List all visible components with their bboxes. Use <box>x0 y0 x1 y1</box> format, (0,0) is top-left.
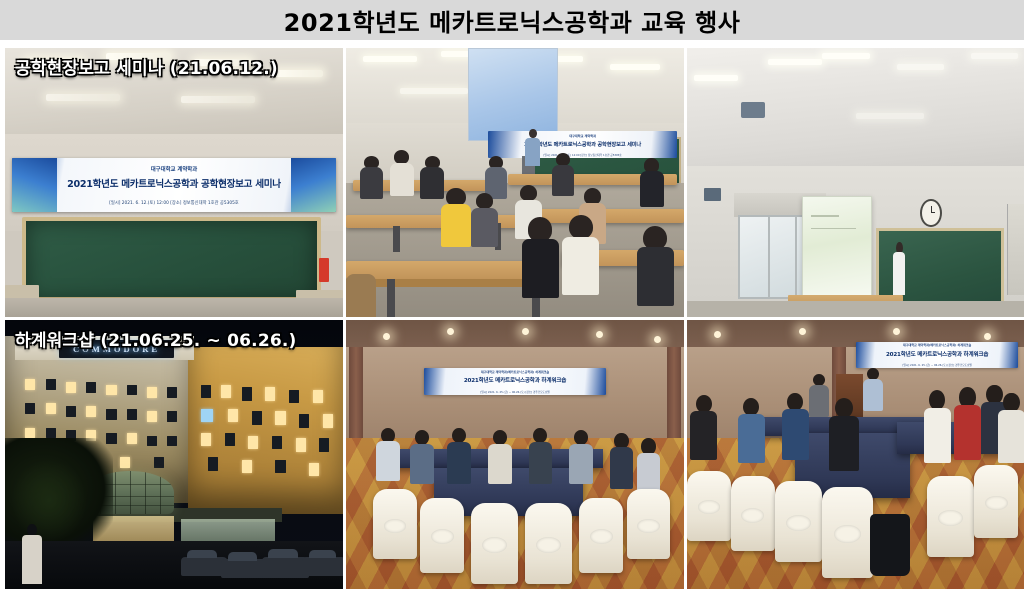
ceiling-light <box>181 96 255 103</box>
banner-line-3: [일시] 2021. 6. 12.(토) 12:00 [장소] 정보통신대학 1… <box>488 153 677 157</box>
row-caption-seminar: 공학현장보고 세미나 (21.06.12.) <box>15 54 278 79</box>
participant <box>529 428 553 484</box>
student <box>562 215 599 296</box>
banquet-chair <box>927 476 974 557</box>
window <box>66 382 76 393</box>
banner-line-1: 대구대학교 계약학과 <box>12 165 336 173</box>
ceiling-light <box>822 53 869 59</box>
projector-screen <box>468 48 558 141</box>
window <box>154 457 164 468</box>
window <box>265 387 275 400</box>
student <box>552 153 574 196</box>
window <box>201 433 211 446</box>
workshop-banner: 대구대학교 계약학과(메카트로닉스공학과) 하계워크숍 2021학년도 메카트로… <box>424 368 607 395</box>
presenter <box>893 242 905 296</box>
window <box>46 403 56 414</box>
participant <box>809 374 829 417</box>
participant <box>376 428 400 482</box>
window <box>147 387 157 398</box>
banquet-chair <box>731 476 775 551</box>
desk-leg <box>387 279 395 317</box>
banner-line-2: 2021학년도 메카트로닉스공학과 공학현장보고 세미나 <box>12 176 336 190</box>
ceiling <box>687 48 1024 172</box>
screen-text-line <box>811 228 856 230</box>
wall-speaker-icon <box>704 188 721 201</box>
banner-line-2: 2021학년도 메카트로닉스공학과 하계워크숍 <box>424 376 607 384</box>
student <box>441 188 471 247</box>
banquet-chair <box>822 487 873 578</box>
banner-line-3: [일시] 2021. 6. 25.(금) ~ 06.26.(토) [장소] 경주… <box>856 363 1018 367</box>
photo-cell-workshop-discussion[interactable]: 대구대학교 계약학과(메카트로닉스공학과) 하계워크숍 2021학년도 메카트로… <box>687 320 1024 589</box>
window <box>46 379 56 390</box>
window <box>86 382 96 393</box>
banquet-chair <box>974 465 1018 538</box>
ceiling-light <box>971 53 1018 59</box>
student <box>640 158 664 206</box>
ceiling-downlight <box>596 331 603 338</box>
participant <box>610 433 634 489</box>
window <box>221 385 231 398</box>
event-photo-board: 2021학년도 메카트로닉스공학과 교육 행사 대구대학교 계약학과 2021학… <box>0 0 1024 594</box>
participant <box>690 395 717 460</box>
page-header: 2021학년도 메카트로닉스공학과 교육 행사 <box>0 0 1024 40</box>
window <box>313 390 323 403</box>
window <box>289 390 299 403</box>
window <box>272 436 282 449</box>
ceiling-light <box>363 56 417 62</box>
banquet-chair <box>627 489 671 559</box>
banner-line-1: 대구대학교 계약학과(메카트로닉스공학과) 하계워크숍 <box>424 370 607 374</box>
participant <box>410 430 434 484</box>
student <box>637 226 674 307</box>
photo-cell-commodore-hotel-night[interactable]: COMMODORE <box>5 320 343 589</box>
banquet-chair <box>525 503 572 584</box>
projector-screen <box>802 196 872 300</box>
seminar-banner: 대구대학교 계약학과 2021학년도 메카트로닉스공학과 공학현장보고 세미나 … <box>488 131 677 158</box>
hotel-building-right <box>188 347 343 514</box>
banquet-chair <box>687 471 731 541</box>
window <box>248 436 258 449</box>
student <box>522 217 559 298</box>
projector-icon <box>741 102 765 118</box>
banner-line-1: 대구대학교 계약학과(메카트로닉스공학과) 하계워크숍 <box>856 343 1018 347</box>
participant <box>782 393 809 460</box>
wall-clock-icon <box>920 199 942 227</box>
participant <box>829 398 859 471</box>
ceiling-downlight <box>522 328 529 335</box>
chair <box>346 274 376 317</box>
page-title: 2021학년도 메카트로닉스공학과 교육 행사 <box>284 3 741 38</box>
screen-text-line <box>811 215 839 217</box>
fire-extinguisher-icon <box>319 258 329 282</box>
window <box>147 436 157 447</box>
window <box>275 411 285 424</box>
banner-line-3: [일시] 2021. 6. 12.(토) 12:00 [장소] 정보통신대학 1… <box>12 200 336 206</box>
ceiling-light <box>694 75 738 81</box>
window <box>225 433 235 446</box>
banquet-chair <box>420 498 464 573</box>
window <box>208 457 218 470</box>
student <box>360 156 384 199</box>
student <box>471 193 498 247</box>
student <box>390 150 414 196</box>
window <box>252 411 262 424</box>
ceiling-light <box>768 59 822 65</box>
chalkboard <box>22 217 321 306</box>
banquet-chair <box>579 498 623 573</box>
ceiling-light <box>400 88 468 94</box>
participant <box>738 398 765 463</box>
banner-line-3: [일시] 2021. 6. 25.(금) ~ 06.26.(토) [장소] 경주… <box>424 390 607 394</box>
window <box>86 406 96 417</box>
window <box>127 385 137 396</box>
presenter <box>525 129 540 167</box>
window <box>25 428 35 439</box>
ceiling-downlight <box>714 331 721 338</box>
participant <box>569 430 593 484</box>
window <box>167 411 177 422</box>
window <box>242 460 252 473</box>
car <box>302 557 343 576</box>
banquet-chair <box>471 503 518 584</box>
window <box>309 463 319 476</box>
window <box>299 414 309 427</box>
window <box>201 385 211 398</box>
desk-leg <box>393 226 400 253</box>
door <box>1007 204 1024 295</box>
window <box>120 457 130 468</box>
floor <box>687 301 1024 317</box>
person <box>22 524 42 583</box>
banner-line-2: 2021학년도 메카트로닉스공학과 하계워크숍 <box>856 350 1018 358</box>
participant <box>954 387 981 460</box>
participant <box>447 428 471 484</box>
window <box>46 428 56 439</box>
window <box>127 409 137 420</box>
ceiling-light <box>856 113 924 119</box>
photo-cell-seminar-classroom-projector[interactable] <box>687 48 1024 317</box>
student <box>485 156 507 199</box>
window <box>66 406 76 417</box>
photo-grid: 대구대학교 계약학과 2021학년도 메카트로닉스공학과 공학현장보고 세미나 … <box>5 48 1019 589</box>
participant <box>998 393 1024 463</box>
window <box>25 379 35 390</box>
ceiling-downlight <box>799 328 806 335</box>
banquet-chair <box>373 489 417 559</box>
backpack <box>870 514 911 576</box>
window <box>147 411 157 422</box>
banner-line-2: 2021학년도 메카트로닉스공학과 공학현장보고 세미나 <box>488 140 677 148</box>
window <box>106 409 116 420</box>
seminar-banner: 대구대학교 계약학과 2021학년도 메카트로닉스공학과 공학현장보고 세미나 … <box>12 158 336 212</box>
participant <box>488 430 512 484</box>
window <box>242 387 252 400</box>
banner-line-1: 대구대학교 계약학과 <box>488 133 677 138</box>
window <box>201 409 213 422</box>
window <box>296 438 306 451</box>
photo-cell-workshop-meeting-room[interactable]: 대구대학교 계약학과(메카트로닉스공학과) 하계워크숍 2021학년도 메카트로… <box>346 320 684 589</box>
row-caption-workshop: 하계워크샵 (21.06.25. ~ 06.26.) <box>15 326 297 351</box>
window <box>167 387 177 398</box>
window <box>228 409 238 422</box>
banquet-chair <box>775 481 822 562</box>
window <box>106 385 116 396</box>
photo-cell-seminar-room-banner[interactable]: 대구대학교 계약학과 2021학년도 메카트로닉스공학과 공학현장보고 세미나 … <box>5 48 343 317</box>
window <box>127 433 137 444</box>
workshop-banner: 대구대학교 계약학과(메카트로닉스공학과) 하계워크숍 2021학년도 메카트로… <box>856 342 1018 369</box>
window <box>319 438 329 451</box>
photo-cell-seminar-lecture-hall[interactable]: 대구대학교 계약학과 2021학년도 메카트로닉스공학과 공학현장보고 세미나 … <box>346 48 684 317</box>
ceiling-light <box>46 94 120 101</box>
ceiling-light <box>897 64 944 70</box>
ceiling-downlight <box>654 336 661 343</box>
participant <box>863 368 883 411</box>
participant <box>924 390 951 463</box>
floor <box>5 298 343 317</box>
window <box>167 436 177 447</box>
window <box>25 403 35 414</box>
ceiling-light <box>272 70 323 77</box>
window <box>275 460 285 473</box>
window <box>323 414 333 427</box>
ceiling-light <box>610 64 661 70</box>
